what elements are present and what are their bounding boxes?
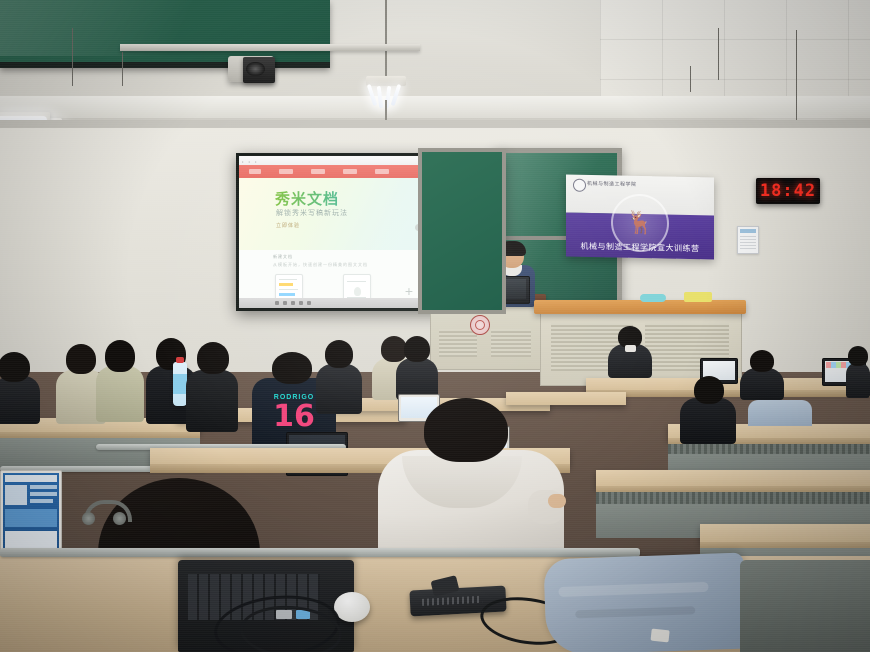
light-arm-icon [377, 86, 384, 108]
student [96, 340, 144, 420]
department-banner: 机械与制造工程学院 🦌 机械与制造工程学院宣大训练营 [566, 174, 714, 259]
site-cta-link[interactable]: 立即体验 [276, 222, 300, 229]
nav-item[interactable] [343, 169, 357, 174]
lamp-wire [718, 28, 719, 80]
jacket-fold [558, 582, 708, 597]
section-label: 新建文档 [273, 254, 293, 260]
jacket-tag [651, 629, 670, 643]
headphone-cup-icon [113, 512, 126, 525]
lamp-wire [72, 28, 73, 86]
nav-item[interactable] [311, 169, 325, 174]
classroom-photo-scene: • • • 秀米文档 解锁秀米写稿新玩法 立即体验 [0, 0, 870, 652]
school-crest-icon [470, 315, 490, 335]
wall-notice-card [737, 226, 759, 254]
light-rod [385, 0, 387, 80]
jacket-fold [575, 606, 695, 618]
jacket-on-chair [748, 400, 812, 426]
denim-jacket [543, 553, 746, 652]
nav-item[interactable] [375, 169, 389, 174]
light-arm-icon [367, 84, 378, 106]
site-subtitle: 解锁秀米写稿新玩法 [276, 208, 348, 218]
light-arm-icon [391, 84, 402, 106]
upper-chalkboard-panel [0, 0, 330, 68]
teacher-desk-top [534, 300, 746, 314]
browser-tab-dots: • • • [242, 159, 258, 164]
student [396, 336, 438, 398]
chalkboard-left-wing [418, 148, 506, 314]
nav-item[interactable] [279, 169, 293, 174]
notice-header [740, 229, 756, 233]
section-sublabel: 从模板开始，快速创建一份精美的图文文档 [273, 262, 368, 268]
student [740, 350, 784, 398]
hand [548, 494, 566, 508]
digital-wall-clock: 18:42 [756, 178, 820, 204]
student [0, 352, 40, 422]
wall-speaker [243, 57, 275, 83]
student [680, 376, 736, 440]
clock-time-display: 18:42 [760, 181, 816, 201]
chair-back [740, 560, 870, 652]
headphone-cup-icon [82, 512, 95, 525]
school-logo-icon [573, 179, 586, 192]
foreground-desk-rail [0, 548, 640, 557]
nav-item[interactable] [249, 169, 261, 174]
desk-item-teal [640, 294, 666, 302]
white-laptop [0, 470, 62, 560]
white-round-puck [334, 592, 370, 622]
desk-panel-edge [596, 492, 870, 504]
lamp-wire [690, 66, 691, 92]
desk-surface [700, 524, 870, 544]
site-title: 秀米文档 [275, 188, 339, 209]
new-document-button[interactable]: + [402, 284, 416, 298]
desk-panel-edge [668, 444, 870, 454]
wall-rail [0, 120, 870, 128]
lamp-wire [122, 52, 123, 86]
bottle-label [173, 374, 187, 394]
lamp-wire [796, 30, 797, 128]
student [608, 326, 652, 376]
desk-item-yellow [684, 292, 712, 302]
projector-mount-rail [120, 44, 420, 51]
water-bottle [173, 362, 187, 406]
student [846, 346, 870, 396]
adapter-label [422, 596, 482, 606]
deer-icon: 🦌 [626, 212, 653, 235]
student [316, 340, 362, 412]
headphones [84, 500, 124, 526]
student [186, 342, 238, 430]
banner-org-label: 机械与制造工程学院 [587, 180, 637, 188]
bottle-cap [176, 357, 184, 363]
